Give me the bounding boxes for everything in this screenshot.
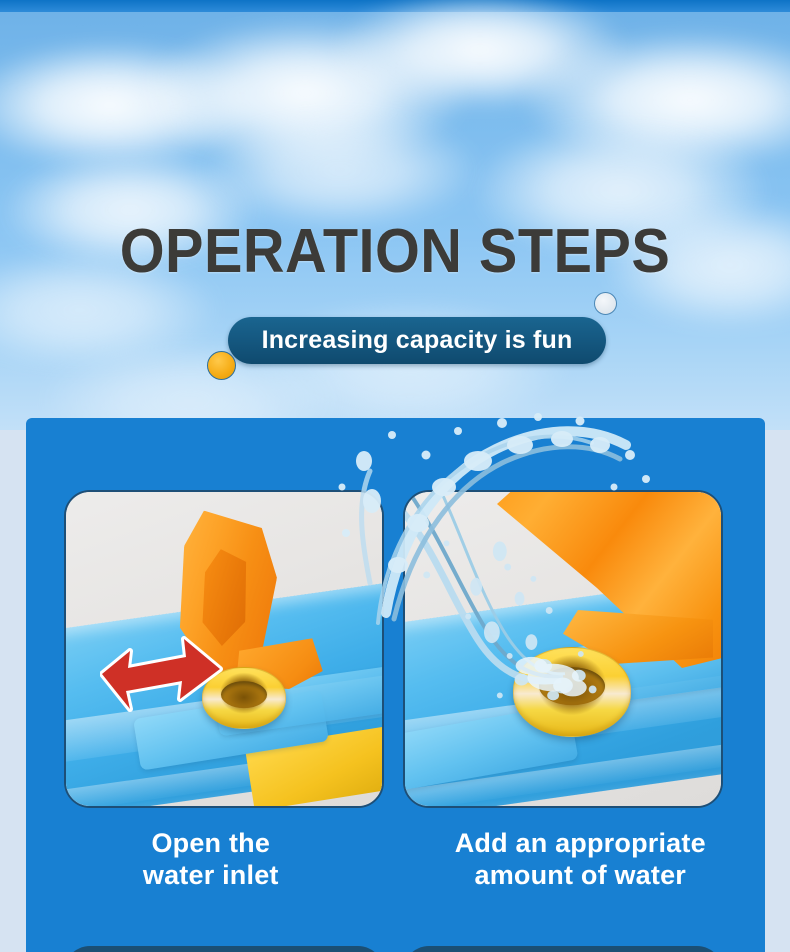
subtitle-banner: Increasing capacity is fun (0, 314, 790, 374)
subtitle-text: Increasing capacity is fun (262, 326, 573, 355)
water-splash-icon (405, 492, 721, 806)
caption-line-1: Add an appropriate (455, 828, 706, 858)
red-arrow-icon (100, 627, 224, 715)
step-caption-2: Add an appropriate amount of water (396, 828, 766, 892)
caption-line-2: amount of water (396, 860, 766, 892)
cloud-shape (330, 0, 630, 110)
orange-bullet-dot-icon (207, 351, 236, 380)
step-photo-2 (405, 492, 721, 806)
caption-line-2: water inlet (26, 860, 396, 892)
pale-bullet-dot-icon (594, 292, 617, 315)
steps-panel: Open the water inlet Add an appropriate … (26, 418, 765, 952)
caption-line-1: Open the (151, 828, 270, 858)
step-photo-1 (66, 492, 382, 806)
cloud-shape (520, 30, 790, 170)
next-step-card-4[interactable] (403, 946, 723, 952)
water-inlet-hole (221, 681, 267, 708)
cloud-shape (140, 18, 470, 168)
step-captions: Open the water inlet Add an appropriate … (26, 828, 765, 892)
top-accent-strip (0, 0, 790, 12)
step-caption-1: Open the water inlet (26, 828, 396, 892)
step-card-2[interactable] (403, 490, 723, 808)
step-card-1[interactable] (64, 490, 384, 808)
page-title: OPERATION STEPS (28, 216, 763, 287)
promo-page: OPERATION STEPS Increasing capacity is f… (0, 0, 790, 952)
cloud-shape (200, 110, 480, 230)
next-step-card-3[interactable] (64, 946, 384, 952)
cloud-shape (0, 40, 260, 170)
subtitle-pill: Increasing capacity is fun (228, 317, 606, 364)
